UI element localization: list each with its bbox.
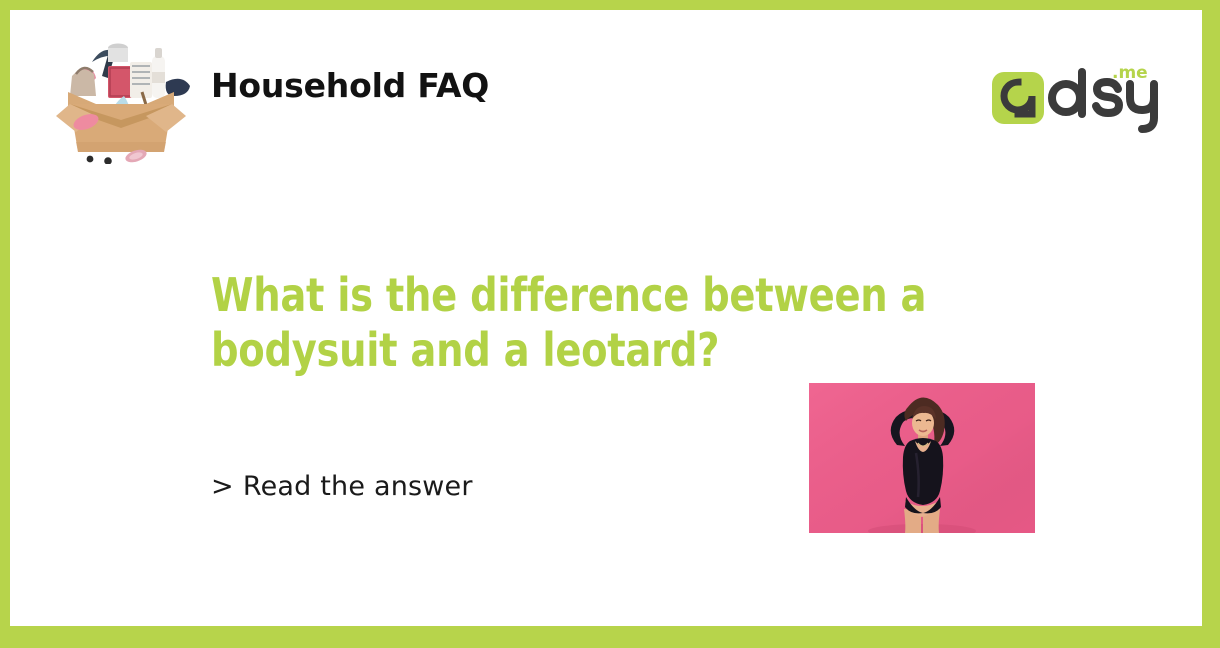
cta-label: Read the answer <box>243 471 473 502</box>
cardboard-box-icon <box>46 24 196 164</box>
faq-promo-card: Household FAQ .me <box>0 0 1220 648</box>
page-title: Household FAQ <box>211 66 489 105</box>
card-canvas: Household FAQ .me <box>10 10 1202 626</box>
article-thumbnail-image[interactable] <box>809 383 1035 533</box>
logo-tld: .me <box>1112 63 1148 83</box>
adsy-logo[interactable]: .me <box>990 58 1158 142</box>
chevron-right-icon: > <box>211 471 234 502</box>
question-headline: What is the difference between a bodysui… <box>211 268 1048 378</box>
header: Household FAQ .me <box>10 10 1202 160</box>
read-the-answer-link[interactable]: > Read the answer <box>211 471 473 502</box>
